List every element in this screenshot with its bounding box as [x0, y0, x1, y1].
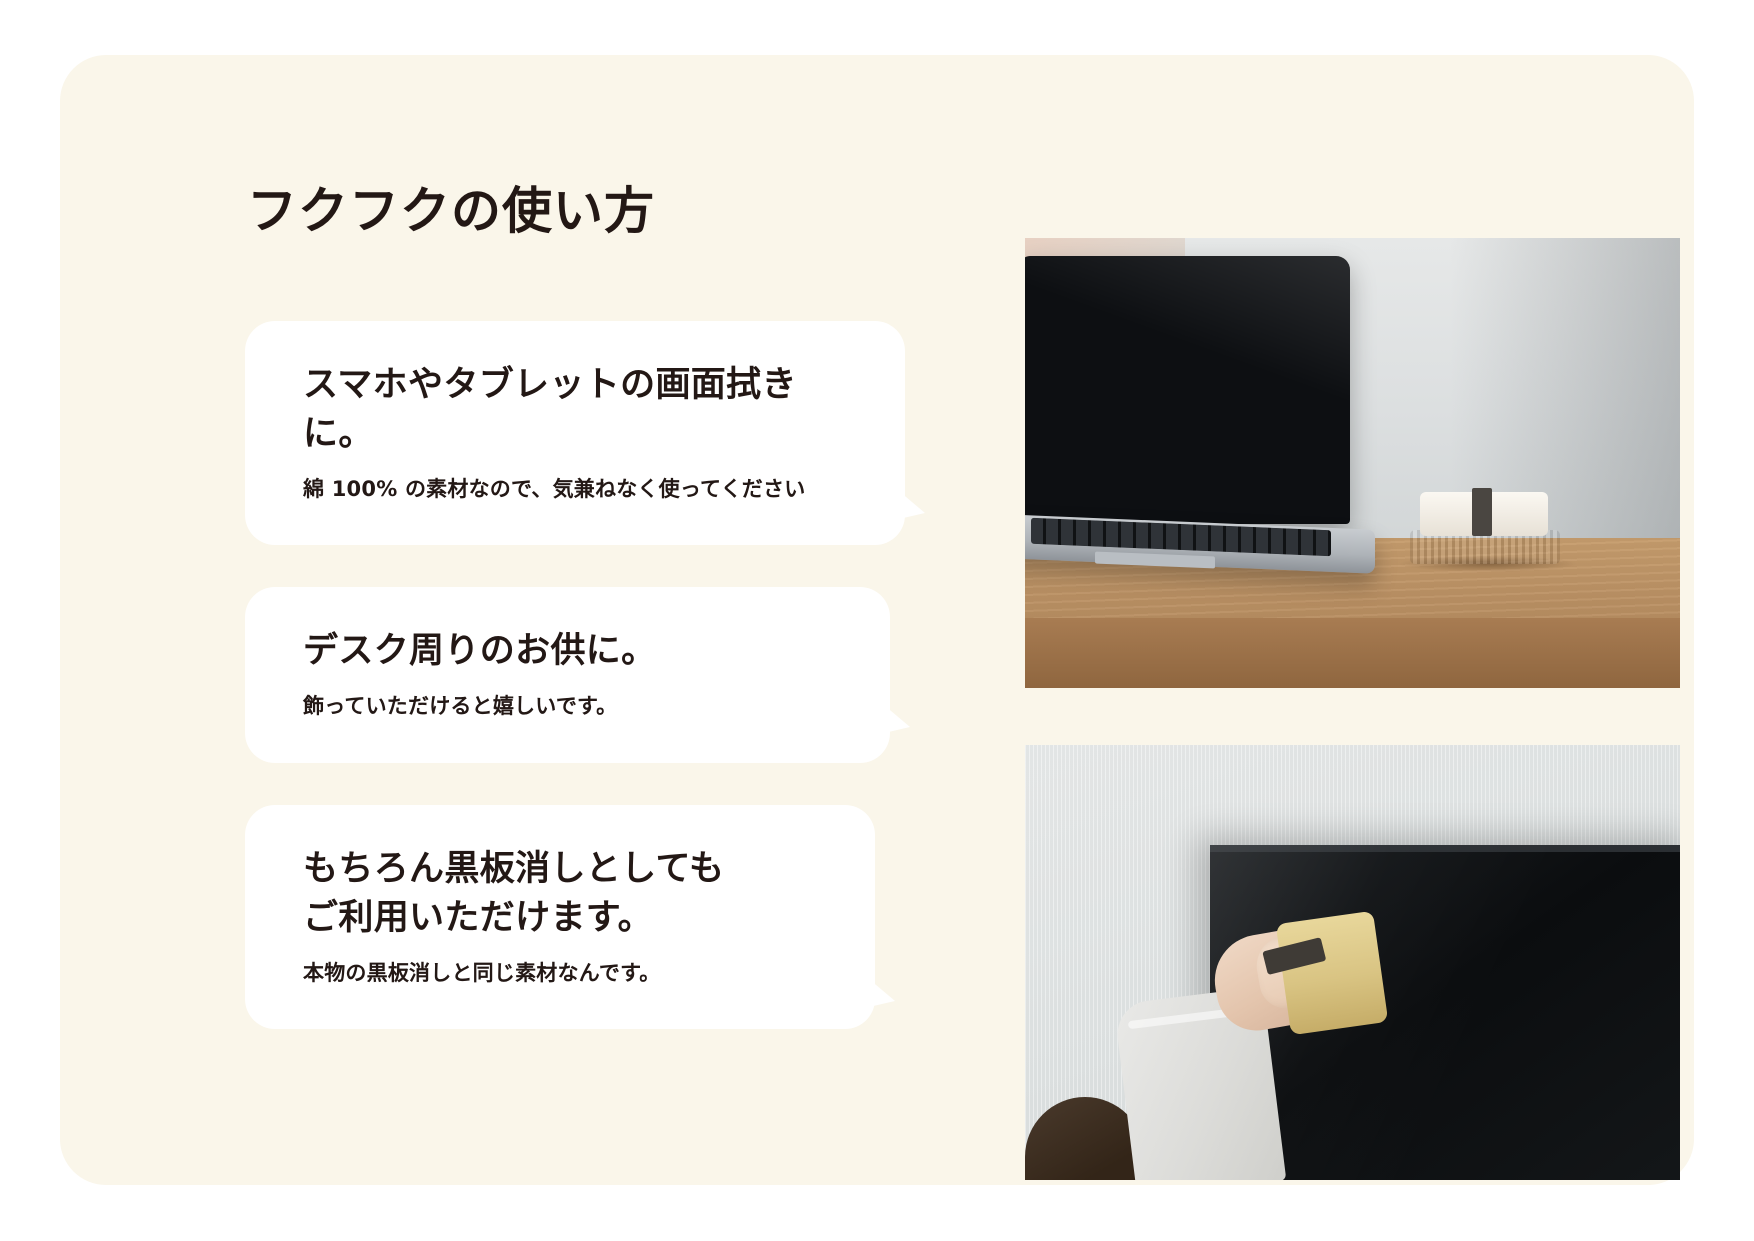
speech-bubble-tail-icon	[899, 491, 925, 519]
usage-bubble-2-title: デスク周りのお供に。	[303, 627, 850, 677]
usage-bubble-3-title: もちろん黒板消しとしても ご利用いただけます。	[303, 845, 835, 944]
photo2-eraser-body	[1276, 911, 1389, 1036]
photo1-product-strap	[1472, 488, 1492, 536]
usage-bubble-1-title: スマホやタブレットの画面拭きに。	[303, 361, 865, 460]
product-photo-laptop-desk	[1025, 238, 1680, 688]
usage-bubble-1: スマホやタブレットの画面拭きに。 綿 100% の素材なので、気兼ねなく使ってく…	[245, 321, 905, 546]
page-title: フクフクの使い方	[247, 180, 965, 243]
usage-bubble-list: スマホやタブレットの画面拭きに。 綿 100% の素材なので、気兼ねなく使ってく…	[245, 321, 965, 1030]
photo2-fukufuku-eraser	[1276, 911, 1389, 1036]
usage-bubble-1-subtitle: 綿 100% の素材なので、気兼ねなく使ってください	[303, 474, 865, 506]
speech-bubble-tail-icon	[884, 705, 910, 733]
usage-bubble-3: もちろん黒板消しとしても ご利用いただけます。 本物の黒板消しと同じ素材なんです…	[245, 805, 875, 1030]
usage-bubble-2: デスク周りのお供に。 飾っていただけると嬉しいです。	[245, 587, 890, 762]
usage-bubble-2-subtitle: 飾っていただけると嬉しいです。	[303, 691, 850, 723]
usage-photo-column	[1025, 238, 1680, 1180]
photo1-fukufuku-product	[1410, 488, 1560, 564]
speech-bubble-tail-icon	[869, 979, 895, 1007]
product-photo-tv-wiping	[1025, 745, 1680, 1180]
usage-section-card: フクフクの使い方 スマホやタブレットの画面拭きに。 綿 100% の素材なので、…	[60, 55, 1694, 1185]
photo1-desk-edge	[1025, 618, 1680, 688]
usage-left-column: フクフクの使い方 スマホやタブレットの画面拭きに。 綿 100% の素材なので、…	[245, 180, 965, 1029]
usage-bubble-3-subtitle: 本物の黒板消しと同じ素材なんです。	[303, 958, 835, 990]
photo1-laptop-screen	[1025, 256, 1350, 524]
